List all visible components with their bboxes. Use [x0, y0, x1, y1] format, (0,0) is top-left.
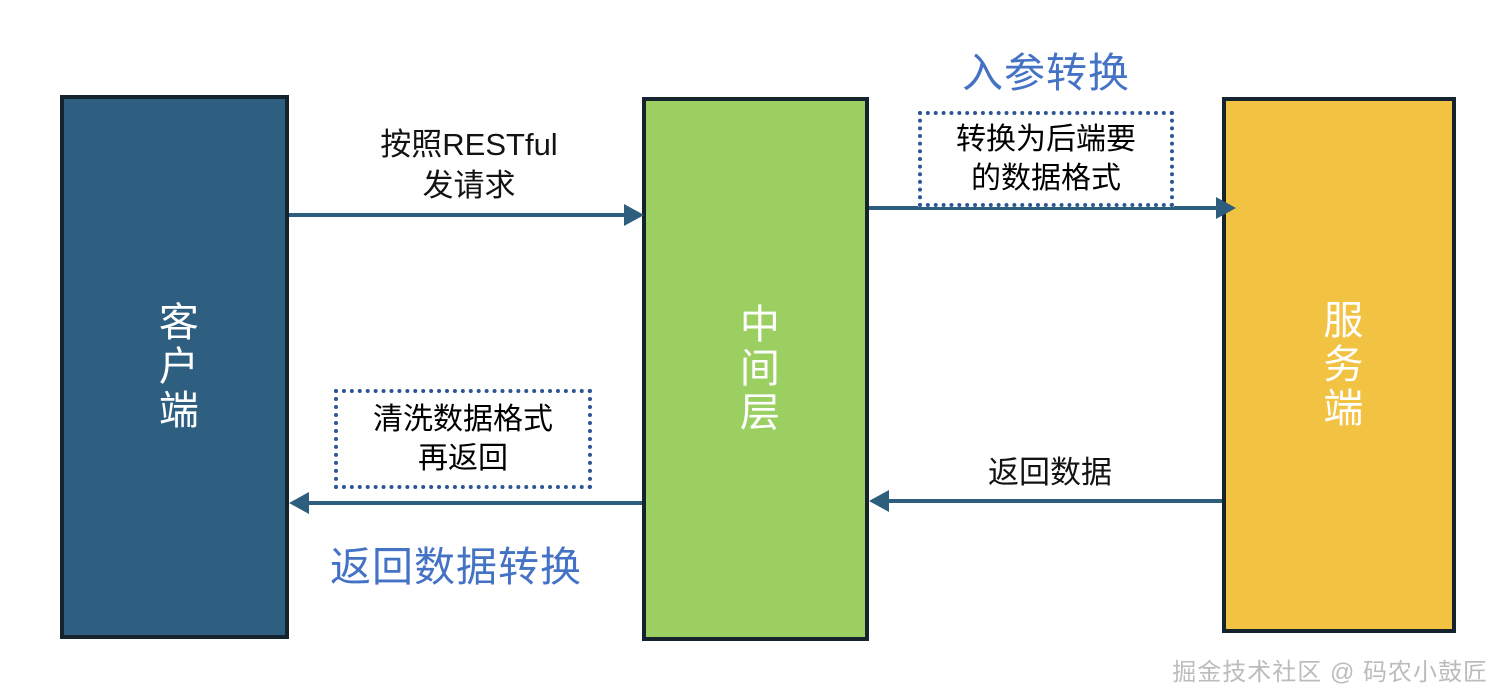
arrow-server-to-middle-head-icon: [869, 490, 889, 512]
lane-client-label: 客户端: [152, 301, 197, 433]
callout-outbound-conversion: 清洗数据格式 再返回: [334, 389, 592, 489]
lane-client: 客户端: [60, 95, 289, 639]
callout-inbound-conversion: 转换为后端要 的数据格式: [918, 111, 1174, 207]
callout-inbound-line2: 的数据格式: [971, 159, 1121, 198]
lane-middle: 中间层: [642, 97, 869, 641]
watermark: 掘金技术社区 @ 码农小鼓匠: [1172, 652, 1488, 687]
arrow-server-to-middle-line: [888, 499, 1222, 503]
arrow-middle-to-server-head-icon: [1216, 197, 1236, 219]
arrow-client-to-middle-line: [289, 213, 626, 217]
diagram-canvas: 客户端 中间层 服务端 按照RESTful 发请求 返回数据 入参转换 返回数据…: [0, 0, 1506, 696]
heading-outbound-conversion: 返回数据转换: [330, 533, 582, 593]
label-send-request: 按照RESTful 发请求: [349, 124, 589, 206]
arrow-middle-to-client-head-icon: [289, 492, 309, 514]
callout-inbound-line1: 转换为后端要: [956, 120, 1136, 159]
callout-outbound-line1: 清洗数据格式: [373, 400, 553, 439]
arrow-client-to-middle-head-icon: [624, 204, 644, 226]
lane-server: 服务端: [1222, 97, 1456, 633]
lane-middle-label: 中间层: [733, 303, 778, 435]
lane-server-label: 服务端: [1317, 299, 1362, 431]
label-return-data: 返回数据: [950, 452, 1150, 493]
callout-outbound-line2: 再返回: [418, 439, 508, 478]
arrow-middle-to-client-line: [308, 501, 642, 505]
heading-inbound-conversion: 入参转换: [962, 39, 1130, 99]
